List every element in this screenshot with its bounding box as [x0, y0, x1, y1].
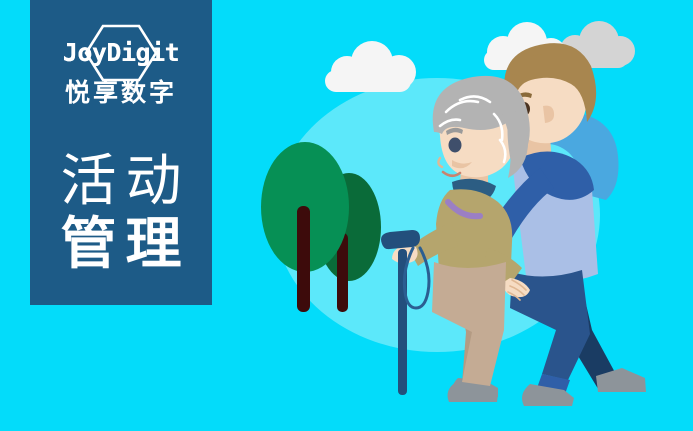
- woman-eye: [449, 138, 462, 153]
- cane-handle: [381, 230, 420, 249]
- cloud-left: [325, 41, 416, 92]
- brand-panel: JoyDigit 悦享数字 活动 管理: [30, 0, 212, 305]
- logo-wordmark: JoyDigit: [63, 40, 179, 65]
- logo: JoyDigit 悦享数字: [46, 26, 196, 126]
- page-title-line-1: 活动: [52, 152, 191, 211]
- page-title: 活动 管理: [52, 152, 191, 274]
- page-title-line-2: 管理: [52, 215, 191, 274]
- poster-canvas: JoyDigit 悦享数字 活动 管理: [0, 0, 693, 431]
- logo-chinese-name: 悦享数字: [65, 81, 177, 106]
